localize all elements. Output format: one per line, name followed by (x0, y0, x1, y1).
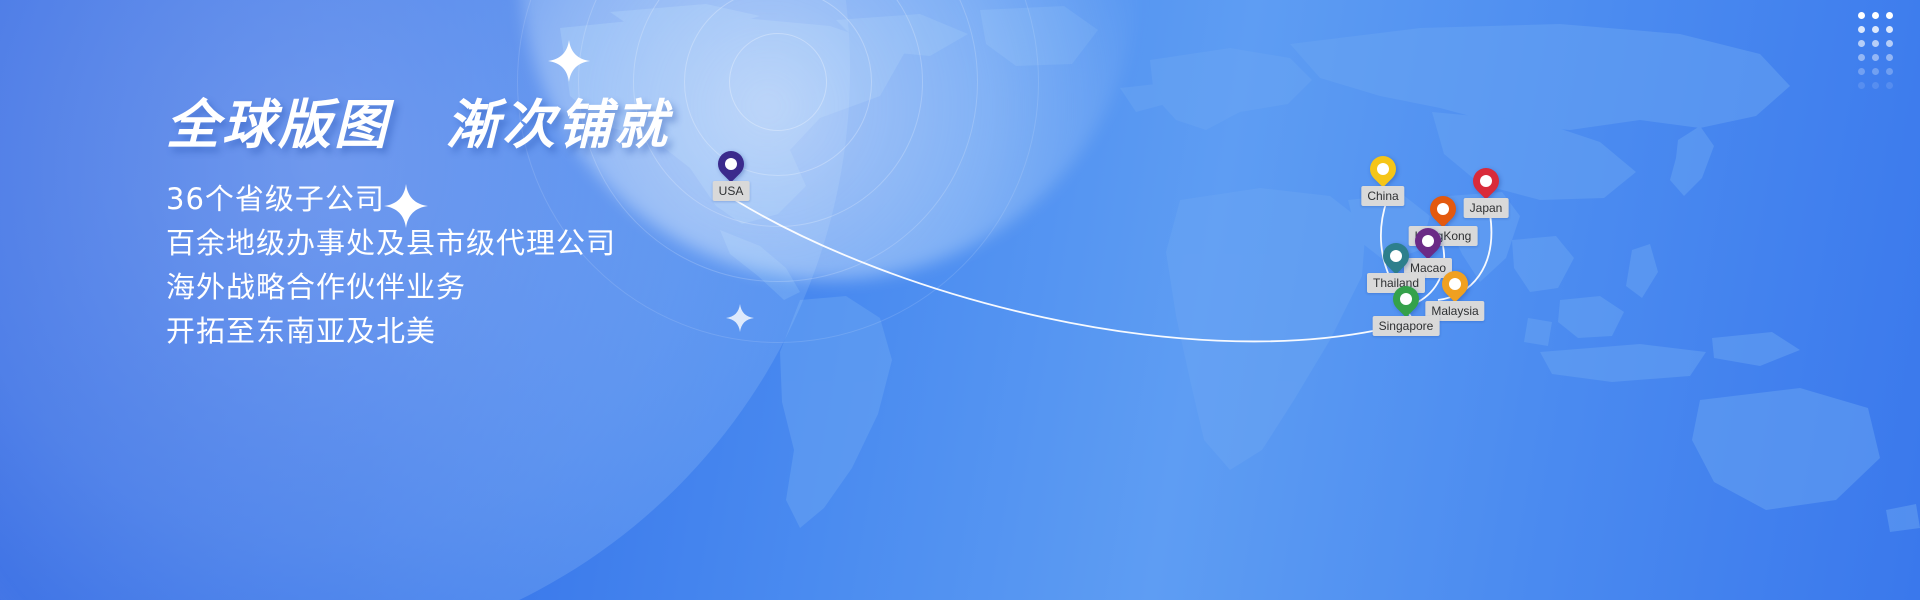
bullet-item: 开拓至东南亚及北美 (166, 309, 926, 353)
map-pin-japan[interactable]: Japan (1473, 168, 1499, 202)
map-pin-singapore[interactable]: Singapore (1393, 286, 1419, 320)
pin-inner-dot (1377, 163, 1389, 175)
pin-inner-dot (1449, 278, 1461, 290)
pin-inner-dot (1437, 203, 1449, 215)
map-pin-label: China (1361, 186, 1404, 206)
banner-copy: 全球版图 渐次铺就 36个省级子公司 百余地级办事处及县市级代理公司 海外战略合… (166, 96, 926, 353)
pin-inner-dot (1400, 293, 1412, 305)
map-pin-macao[interactable]: Macao (1415, 228, 1441, 262)
page-title: 全球版图 渐次铺就 (166, 96, 926, 155)
banner-bullet-list: 36个省级子公司 百余地级办事处及县市级代理公司 海外战略合作伙伴业务 开拓至东… (166, 177, 926, 353)
map-pin-label: Singapore (1373, 316, 1440, 336)
pin-inner-dot (1390, 250, 1402, 262)
pin-inner-dot (1422, 235, 1434, 247)
bullet-item: 海外战略合作伙伴业务 (166, 265, 926, 309)
map-pin-malaysia[interactable]: Malaysia (1442, 271, 1468, 305)
global-map-banner: USA China Japan HongKong Macao Thailand (0, 0, 1920, 600)
bullet-item: 百余地级办事处及县市级代理公司 (166, 221, 926, 265)
map-pin-thailand[interactable]: Thailand (1383, 243, 1409, 277)
map-pin-china[interactable]: China (1370, 156, 1396, 190)
map-pin-label: Japan (1464, 198, 1509, 218)
bullet-item: 36个省级子公司 (166, 177, 926, 221)
pin-inner-dot (1480, 175, 1492, 187)
map-pin-hongkong[interactable]: HongKong (1430, 196, 1456, 230)
